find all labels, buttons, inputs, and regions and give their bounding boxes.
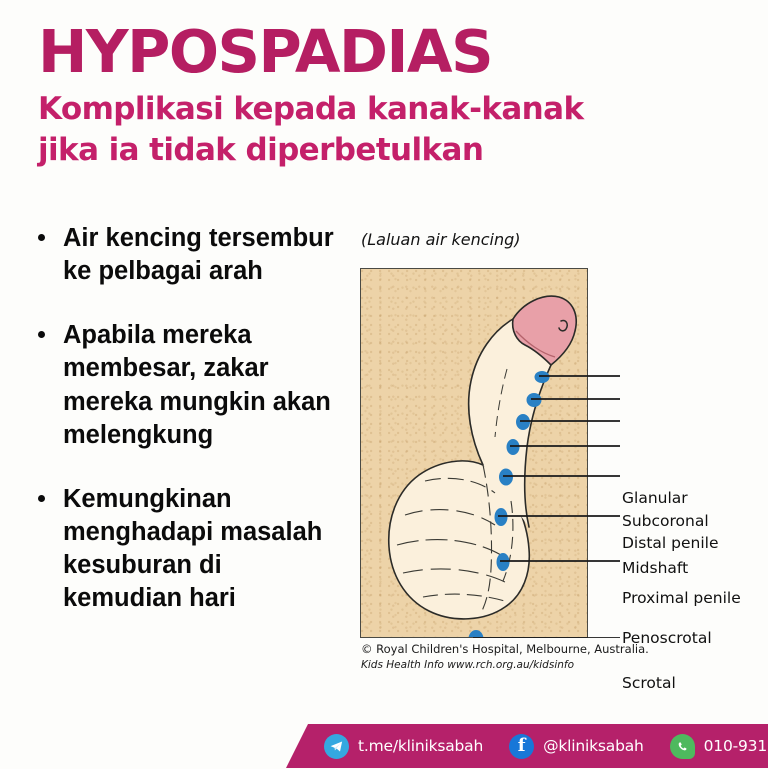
- attribution-copyright: © Royal Children's Hospital, Melbourne, …: [361, 642, 661, 658]
- diagram-panel: [360, 268, 588, 638]
- attribution: © Royal Children's Hospital, Melbourne, …: [361, 642, 661, 672]
- marker-scrotal: [497, 553, 510, 571]
- label-proximal-penile: Proximal penile: [622, 591, 741, 607]
- label-glanular: Glanular: [622, 491, 688, 507]
- attribution-source: Kids Health Info www.rch.org.au/kidsinfo: [361, 658, 661, 672]
- page-title: HYPOSPADIAS: [38, 22, 658, 81]
- whatsapp-number: 010-931 4190: [704, 737, 768, 755]
- header: HYPOSPADIAS Komplikasi kepada kanak-kana…: [38, 22, 658, 171]
- social-link-telegram[interactable]: t.me/kliniksabah: [324, 734, 483, 759]
- list-item: Air kencing tersembur ke pelbagai arah: [34, 222, 344, 288]
- list-item-label: Apabila mereka membesar, zakar mereka mu…: [63, 321, 331, 448]
- subtitle-line-2: jika ia tidak diperbetulkan: [38, 130, 658, 171]
- social-footer-bar: t.me/kliniksabah f @kliniksabah 010-931 …: [286, 724, 768, 768]
- diagram-caption: (Laluan air kencing): [361, 230, 521, 249]
- label-midshaft: Midshaft: [622, 561, 688, 577]
- anatomy-diagram: (Laluan air kencing): [358, 230, 758, 670]
- marker-perineal: [469, 630, 484, 638]
- label-subcoronal: Subcoronal: [622, 514, 709, 530]
- marker-glanular: [535, 371, 550, 383]
- anatomy-illustration: [361, 269, 588, 638]
- whatsapp-icon: [670, 734, 695, 759]
- telegram-handle: t.me/kliniksabah: [358, 737, 483, 755]
- facebook-handle: @kliniksabah: [543, 737, 644, 755]
- list-item: Kemungkinan menghadapi masalah kesuburan…: [34, 483, 344, 616]
- marker-subcoronal: [527, 393, 542, 407]
- subtitle-line-1: Komplikasi kepada kanak-kanak: [38, 89, 658, 130]
- bullet-dot-icon: [38, 234, 45, 241]
- social-link-whatsapp[interactable]: 010-931 4190: [670, 734, 768, 759]
- social-link-facebook[interactable]: f @kliniksabah: [509, 734, 644, 759]
- list-item-label: Kemungkinan menghadapi masalah kesuburan…: [63, 485, 322, 612]
- marker-proximal-penile: [499, 469, 513, 486]
- complications-list: Air kencing tersembur ke pelbagai arah A…: [34, 222, 344, 615]
- marker-midshaft: [507, 439, 520, 455]
- bullet-dot-icon: [38, 331, 45, 338]
- list-item-label: Air kencing tersembur ke pelbagai arah: [63, 224, 334, 285]
- facebook-glyph: f: [518, 737, 526, 755]
- subtitle-block: Komplikasi kepada kanak-kanak jika ia ti…: [38, 89, 658, 171]
- bullet-dot-icon: [38, 495, 45, 502]
- label-scrotal: Scrotal: [622, 676, 676, 692]
- label-distal-penile: Distal penile: [622, 536, 718, 552]
- list-item: Apabila mereka membesar, zakar mereka mu…: [34, 319, 344, 452]
- facebook-icon: f: [509, 734, 534, 759]
- marker-penoscrotal: [495, 508, 508, 526]
- telegram-icon: [324, 734, 349, 759]
- marker-distal-penile: [516, 414, 530, 430]
